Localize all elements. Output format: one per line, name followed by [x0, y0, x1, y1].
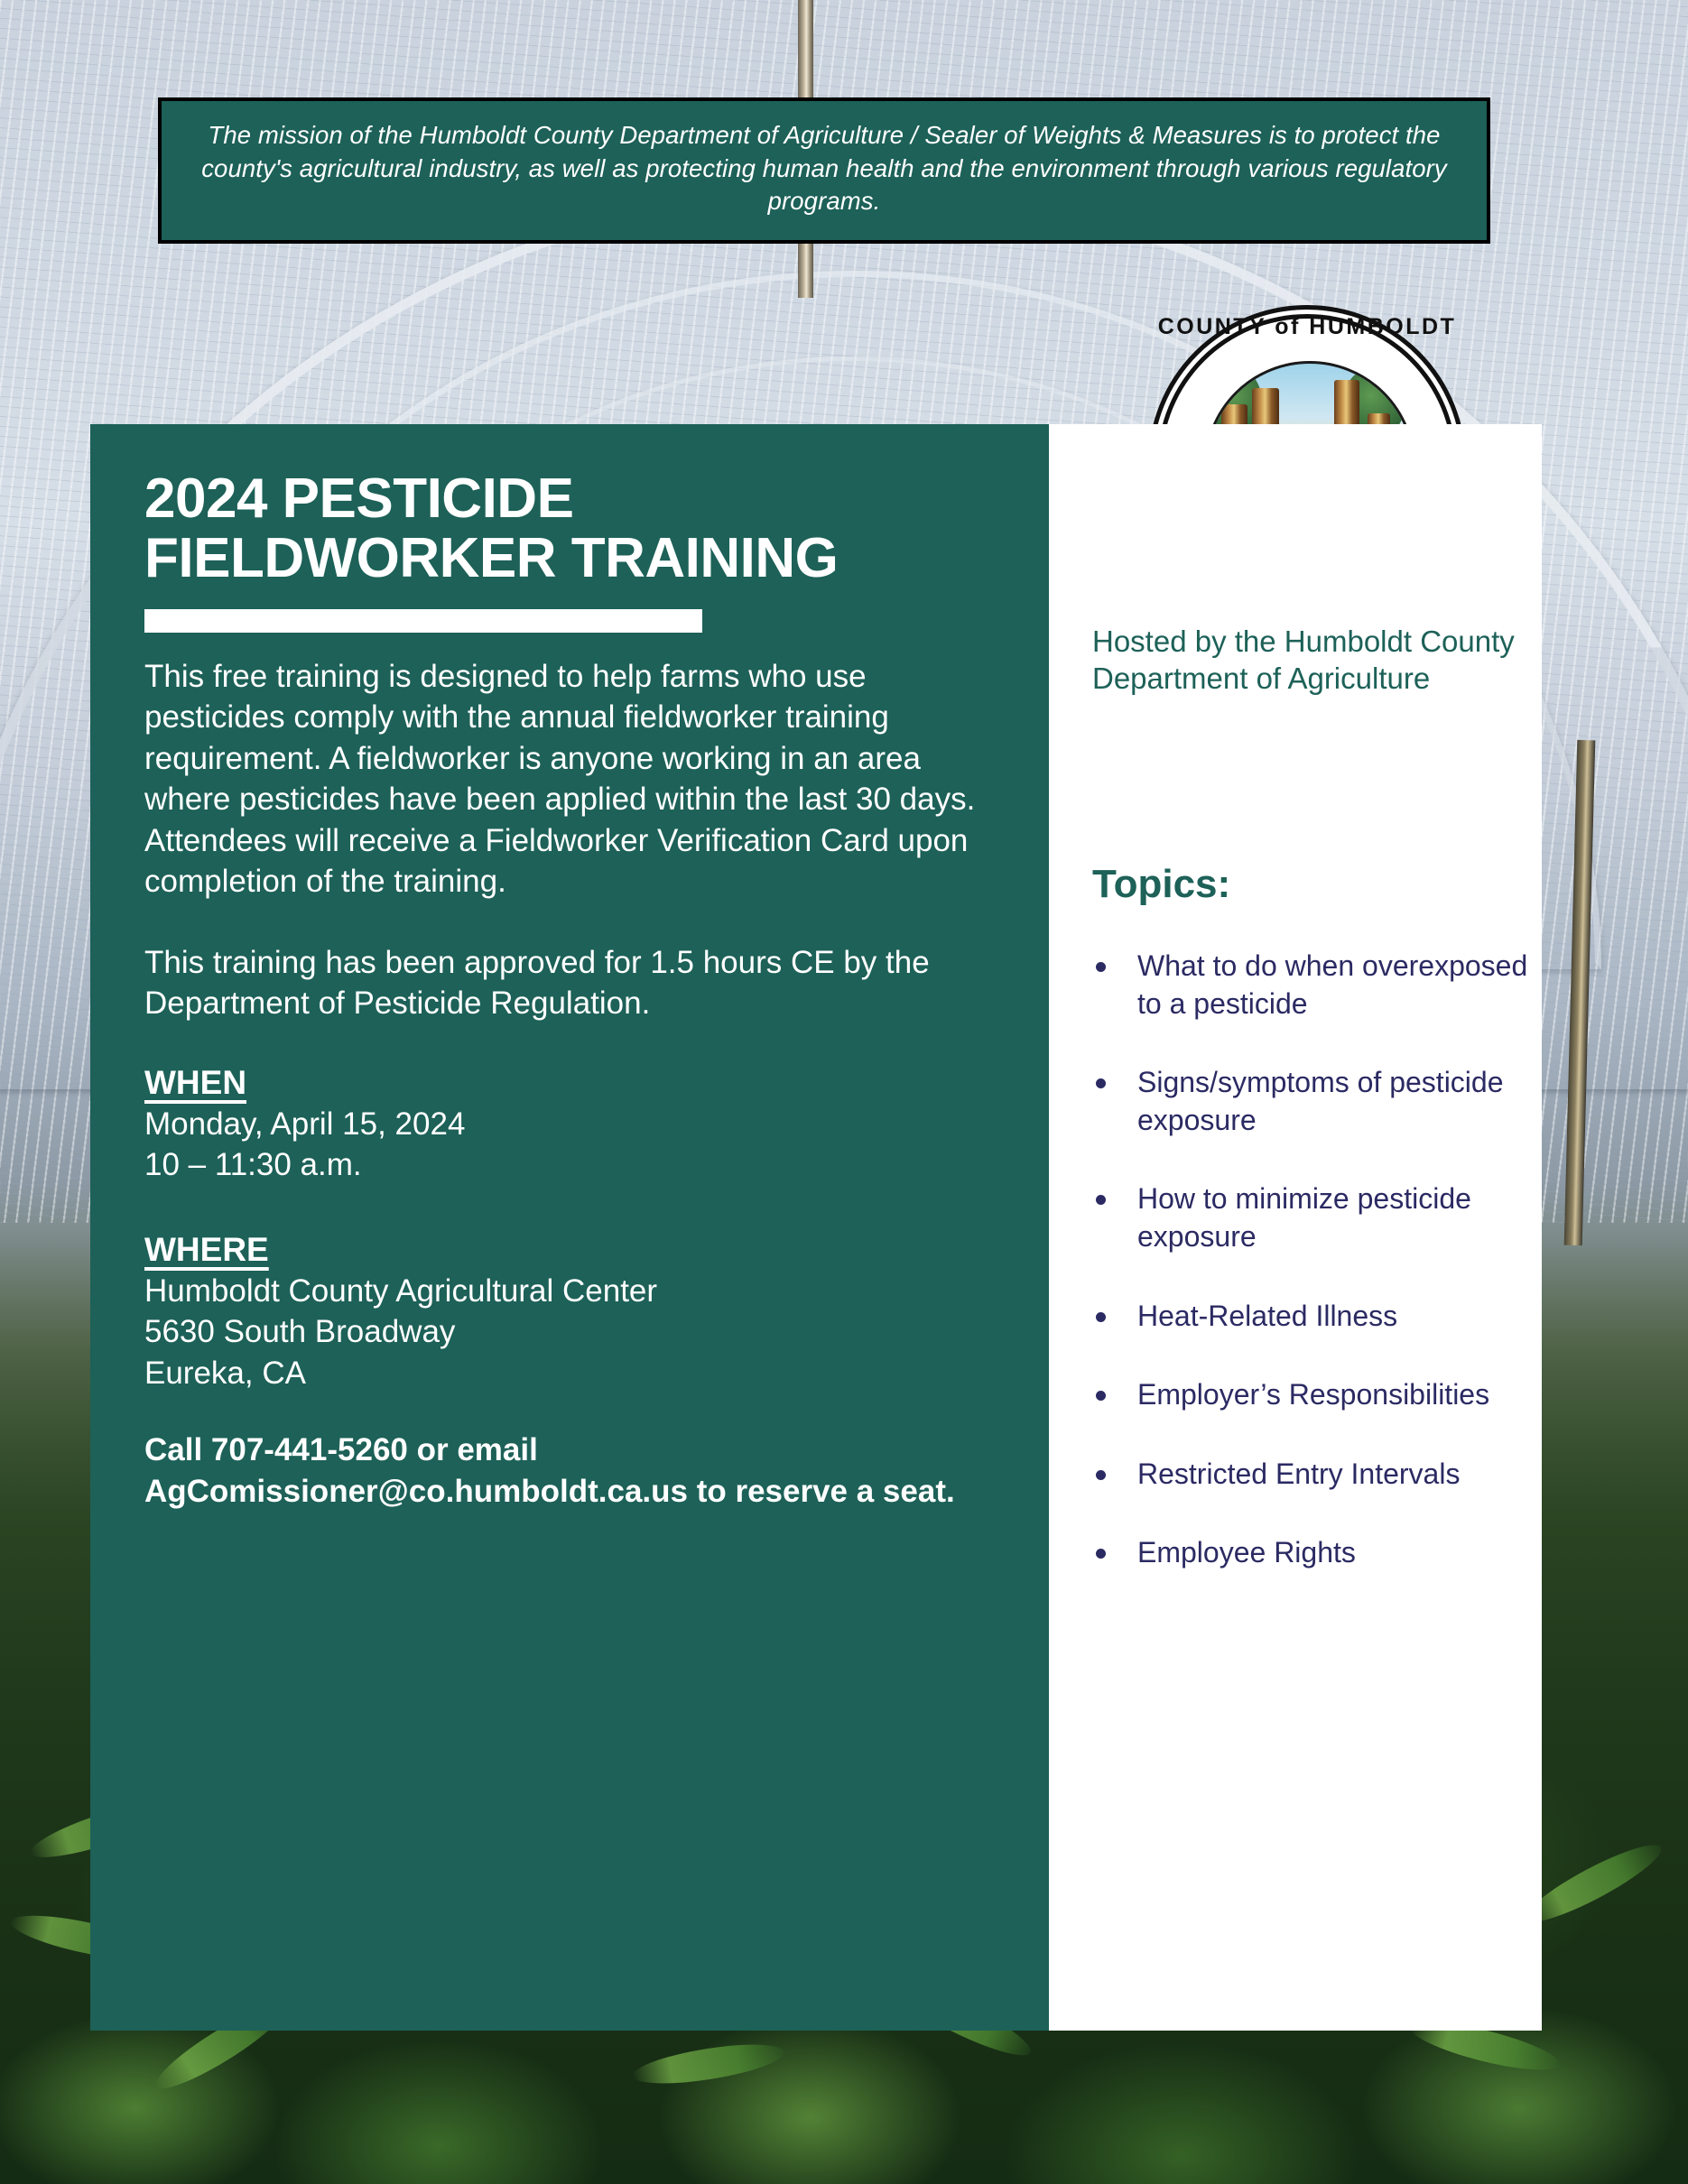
when-heading: WHEN	[144, 1064, 995, 1102]
topics-list: What to do when overexposed to a pestici…	[1083, 948, 1535, 1614]
where-heading: WHERE	[144, 1231, 995, 1269]
list-item: Heat-Related Illness	[1083, 1298, 1535, 1336]
topic-label: Employee Rights	[1137, 1536, 1356, 1569]
contact-instructions: Call 707-441-5260 or email AgComissioner…	[144, 1430, 995, 1512]
list-item: Signs/symptoms of pesticide exposure	[1083, 1064, 1535, 1139]
bullet-icon	[1096, 962, 1106, 972]
bullet-icon	[1096, 1470, 1106, 1480]
list-item: How to minimize pesticide exposure	[1083, 1180, 1535, 1255]
when-time: 10 – 11:30 a.m.	[144, 1144, 995, 1186]
hosted-by-text: Hosted by the Humboldt County Department…	[1092, 623, 1516, 698]
topic-label: Signs/symptoms of pesticide exposure	[1137, 1066, 1504, 1136]
topic-label: Heat-Related Illness	[1137, 1300, 1397, 1332]
page-title: 2024 PESTICIDE FIELDWORKER TRAINING	[144, 469, 995, 589]
bullet-icon	[1096, 1312, 1106, 1322]
description-paragraph: This free training is designed to help f…	[144, 656, 995, 902]
where-venue: Humboldt County Agricultural Center	[144, 1271, 995, 1312]
ce-credit-paragraph: This training has been approved for 1.5 …	[144, 942, 995, 1024]
where-city: Eureka, CA	[144, 1353, 995, 1394]
bullet-icon	[1096, 1195, 1106, 1205]
flyer-page: The mission of the Humboldt County Depar…	[0, 0, 1688, 2184]
topic-label: Employer’s Responsibilities	[1137, 1378, 1489, 1411]
topic-label: What to do when overexposed to a pestici…	[1137, 949, 1527, 1020]
list-item: Restricted Entry Intervals	[1083, 1456, 1535, 1494]
when-date: Monday, April 15, 2024	[144, 1104, 995, 1145]
section-spacer	[144, 1393, 995, 1430]
bullet-icon	[1096, 1549, 1106, 1559]
main-content-panel: 2024 PESTICIDE FIELDWORKER TRAINING This…	[90, 424, 1049, 2031]
list-item: Employee Rights	[1083, 1534, 1535, 1572]
title-divider-bar	[144, 609, 702, 633]
list-item: Employer’s Responsibilities	[1083, 1376, 1535, 1414]
where-street: 5630 South Broadway	[144, 1311, 995, 1353]
topic-label: How to minimize pesticide exposure	[1137, 1182, 1471, 1253]
section-spacer	[144, 1186, 995, 1231]
mission-statement-banner: The mission of the Humboldt County Depar…	[158, 97, 1490, 244]
topic-label: Restricted Entry Intervals	[1137, 1458, 1460, 1490]
list-item: What to do when overexposed to a pestici…	[1083, 948, 1535, 1023]
topics-heading: Topics:	[1092, 862, 1230, 907]
bullet-icon	[1096, 1078, 1106, 1088]
bullet-icon	[1096, 1391, 1106, 1401]
leaf-shape	[630, 2037, 786, 2091]
